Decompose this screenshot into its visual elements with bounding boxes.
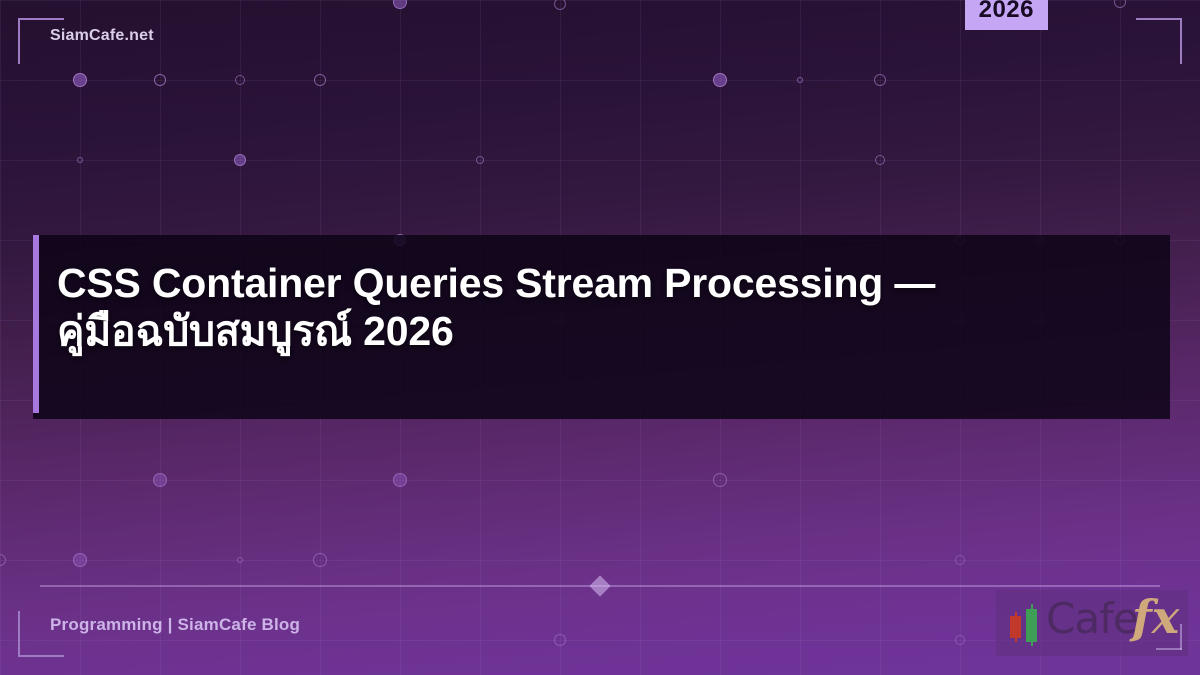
decor-dot: [797, 77, 803, 83]
decor-dot: [554, 0, 566, 10]
decor-dot: [713, 473, 727, 487]
banner-canvas: SiamCafe.net 2026 CSS Container Queries …: [0, 0, 1200, 675]
decor-dot: [875, 155, 885, 165]
bracket-line-vertical: [18, 611, 20, 657]
year-badge: 2026: [965, 0, 1048, 30]
logo-inner: Cafe fx: [996, 590, 1188, 656]
logo-corner-bracket: [1156, 624, 1182, 650]
page-title: CSS Container Queries Stream Processing …: [57, 259, 1147, 355]
decor-dot: [314, 74, 326, 86]
site-name: SiamCafe.net: [50, 27, 154, 45]
decor-dot: [955, 635, 965, 645]
decor-dot: [955, 555, 965, 565]
title-accent-bar: [33, 235, 39, 413]
decor-dot: [476, 156, 484, 164]
bracket-line-vertical: [1180, 624, 1182, 650]
decor-dot: [313, 553, 327, 567]
decor-dot: [234, 154, 246, 166]
decor-dot: [77, 157, 83, 163]
candle-body: [1026, 609, 1037, 642]
decor-dot: [393, 0, 407, 9]
decor-dot: [713, 73, 727, 87]
title-band: CSS Container Queries Stream Processing …: [33, 235, 1170, 419]
decor-dot: [237, 557, 243, 563]
candle-body: [1010, 616, 1021, 638]
footer-category: Programming | SiamCafe Blog: [50, 615, 300, 635]
decor-dot: [1114, 0, 1126, 8]
decor-dot: [73, 553, 87, 567]
decor-dot: [154, 74, 166, 86]
decor-dot: [554, 634, 566, 646]
bracket-line-horizontal: [1156, 648, 1182, 650]
decor-dot: [393, 473, 407, 487]
logo-badge: Cafe fx: [996, 590, 1188, 656]
bracket-line-horizontal: [1136, 18, 1182, 20]
logo-wordmark: Cafe: [1046, 594, 1138, 643]
bracket-line-vertical: [1180, 18, 1182, 64]
candlestick-chart-icon: [1010, 604, 1044, 644]
corner-bracket-top-right: [1136, 18, 1182, 64]
decor-dot: [73, 73, 87, 87]
divider-diamond-icon: [589, 575, 610, 596]
bracket-line-vertical: [18, 18, 20, 64]
decor-dot: [153, 473, 167, 487]
decor-dot: [0, 554, 6, 566]
bracket-line-horizontal: [18, 18, 64, 20]
decor-dot: [235, 75, 245, 85]
decor-dot: [874, 74, 886, 86]
bracket-line-horizontal: [18, 655, 64, 657]
